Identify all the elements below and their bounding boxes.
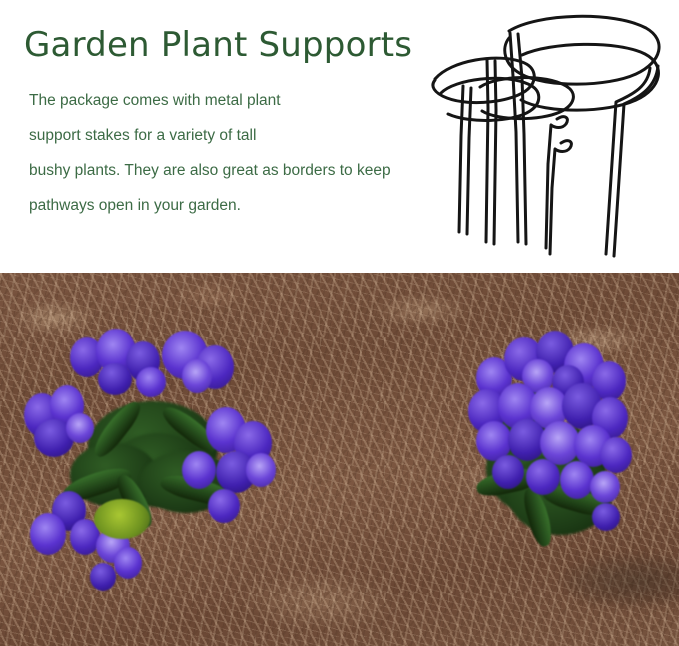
stake-rear-left-b	[518, 34, 526, 244]
stake-front-left-b	[494, 61, 496, 244]
stake-loop-lower	[550, 141, 571, 254]
product-illustration	[418, 4, 679, 266]
info-panel: Garden Plant Supports The package comes …	[0, 0, 679, 273]
stake-rear-left-a	[510, 33, 518, 242]
stake-front-left-a	[486, 60, 488, 242]
stake-inner-a	[459, 86, 463, 232]
product-infographic-page: Garden Plant Supports The package comes …	[0, 0, 679, 646]
unsupported-plant	[10, 323, 290, 603]
photo-comparison	[0, 273, 679, 646]
page-title: Garden Plant Supports	[24, 25, 412, 65]
stake-inner-b	[467, 88, 471, 234]
stake-rear-right-b	[614, 66, 658, 256]
stake-loop-upper	[546, 117, 567, 248]
supported-plant	[452, 321, 672, 581]
